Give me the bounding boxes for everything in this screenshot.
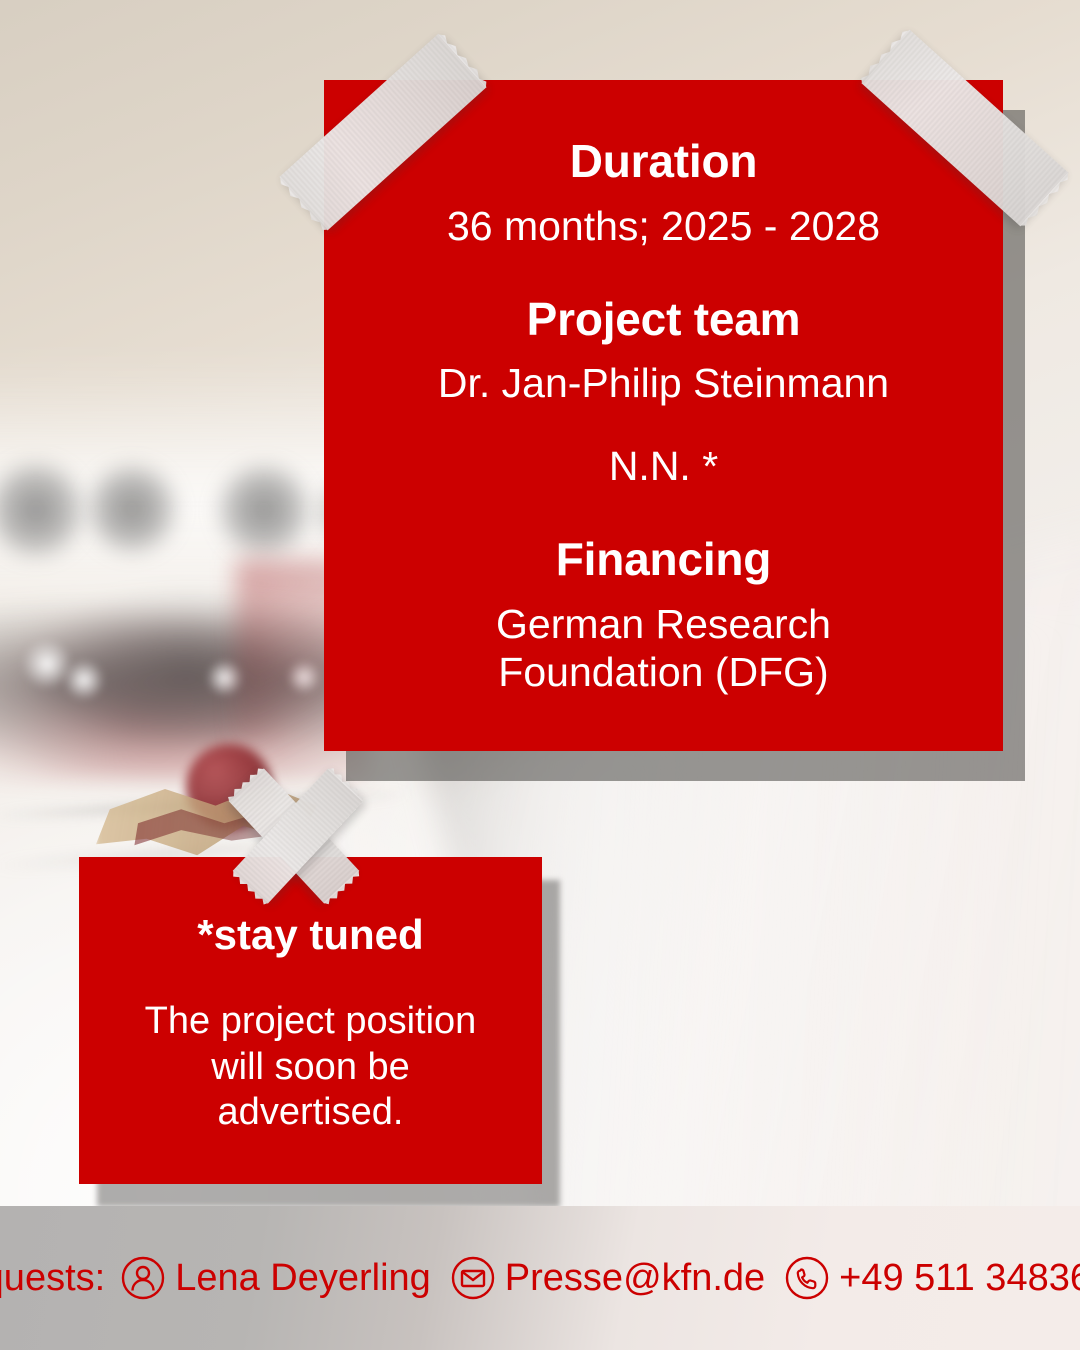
project-team-heading: Project team [527, 294, 801, 346]
duration-heading: Duration [570, 136, 758, 188]
stay-tuned-body-line-3: advertised. [218, 1090, 404, 1136]
phone-icon [785, 1256, 829, 1300]
contact-email-address: Presse@kfn.de [505, 1259, 765, 1297]
financing-value-line-2: Foundation (DFG) [498, 648, 828, 696]
contact-row: Requests: Lena Deyerling [0, 1256, 1080, 1300]
bokeh-dot [82, 462, 182, 556]
stay-tuned-card: *stay tuned The project position will so… [79, 857, 542, 1184]
stay-tuned-body-line-1: The project position [145, 999, 477, 1045]
contact-email[interactable]: Presse@kfn.de [451, 1256, 765, 1300]
project-team-member-2: N.N. * [609, 442, 718, 490]
poster-canvas: Duration 36 months; 2025 - 2028 Project … [0, 0, 1080, 1350]
contact-phone-number: +49 511 34836-25 [839, 1259, 1080, 1297]
financing-heading: Financing [556, 534, 771, 586]
bokeh-dot [212, 462, 316, 558]
project-team-member-1: Dr. Jan-Philip Steinmann [438, 359, 889, 407]
contact-phone[interactable]: +49 511 34836-25 [785, 1256, 1080, 1300]
stay-tuned-body-line-2: will soon be [211, 1045, 410, 1091]
bokeh-highlight [62, 660, 106, 700]
person-icon [121, 1256, 165, 1300]
requests-label: Requests: [0, 1257, 105, 1300]
envelope-icon [451, 1256, 495, 1300]
stay-tuned-heading: *stay tuned [197, 911, 423, 959]
duration-value: 36 months; 2025 - 2028 [447, 202, 880, 250]
contact-person-name: Lena Deyerling [175, 1259, 431, 1297]
contact-person[interactable]: Lena Deyerling [121, 1256, 431, 1300]
financing-value-line-1: German Research [496, 600, 831, 648]
contact-footer: Requests: Lena Deyerling [0, 1206, 1080, 1350]
main-info-card: Duration 36 months; 2025 - 2028 Project … [324, 80, 1003, 751]
